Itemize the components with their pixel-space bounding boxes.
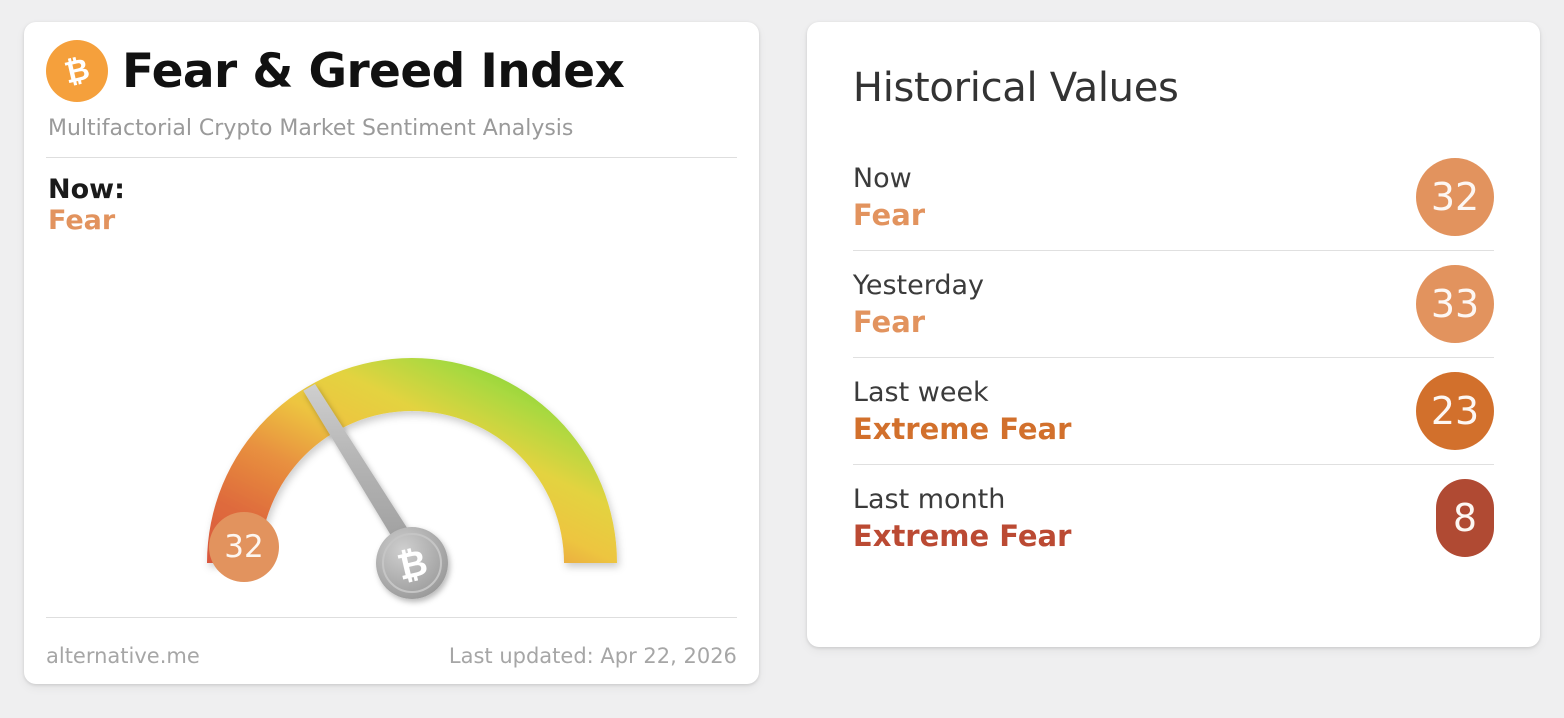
row-classification: Extreme Fear [853, 522, 1072, 551]
row-classification: Fear [853, 308, 984, 337]
card-header: ₿ Fear & Greed Index [46, 40, 737, 102]
list-item: Yesterday Fear 33 [853, 250, 1494, 357]
fear-greed-index-card: ₿ Fear & Greed Index Multifactorial Cryp… [24, 22, 759, 684]
svg-text:₿: ₿ [61, 52, 93, 91]
gauge-chart: ₿ 32 [46, 258, 739, 618]
row-text: Last week Extreme Fear [853, 379, 1072, 444]
last-updated-text: Last updated: Apr 22, 2026 [449, 644, 737, 668]
card-footer: alternative.me Last updated: Apr 22, 202… [46, 644, 737, 668]
row-period: Last month [853, 486, 1072, 513]
source-link[interactable]: alternative.me [46, 644, 200, 668]
row-text: Now Fear [853, 165, 925, 230]
row-value-badge: 23 [1416, 372, 1494, 450]
row-period: Yesterday [853, 272, 984, 299]
gauge-needle-hub: ₿ [376, 527, 448, 599]
row-period: Last week [853, 379, 1072, 406]
historical-title: Historical Values [853, 68, 1494, 108]
list-item: Last month Extreme Fear 8 [853, 464, 1494, 571]
row-text: Yesterday Fear [853, 272, 984, 337]
row-classification: Extreme Fear [853, 415, 1072, 444]
now-classification: Fear [48, 205, 737, 237]
gauge-value-badge: 32 [209, 512, 279, 582]
list-item: Last week Extreme Fear 23 [853, 357, 1494, 464]
now-label: Now: [48, 174, 737, 205]
row-period: Now [853, 165, 925, 192]
footer-divider [46, 617, 737, 618]
row-value-badge: 33 [1416, 265, 1494, 343]
bitcoin-icon: ₿ [46, 40, 108, 102]
now-block: Now: Fear [46, 174, 737, 237]
list-item: Now Fear 32 [853, 152, 1494, 250]
page-subtitle: Multifactorial Crypto Market Sentiment A… [46, 116, 737, 141]
header-divider [46, 157, 737, 158]
page-root: ₿ Fear & Greed Index Multifactorial Cryp… [0, 0, 1564, 718]
row-classification: Fear [853, 201, 925, 230]
historical-list: Now Fear 32 Yesterday Fear 33 Last week … [853, 152, 1494, 571]
row-value-badge: 32 [1416, 158, 1494, 236]
page-title: Fear & Greed Index [122, 48, 624, 95]
historical-values-card: Historical Values Now Fear 32 Yesterday … [807, 22, 1540, 647]
row-value-badge: 8 [1436, 479, 1494, 557]
row-text: Last month Extreme Fear [853, 486, 1072, 551]
